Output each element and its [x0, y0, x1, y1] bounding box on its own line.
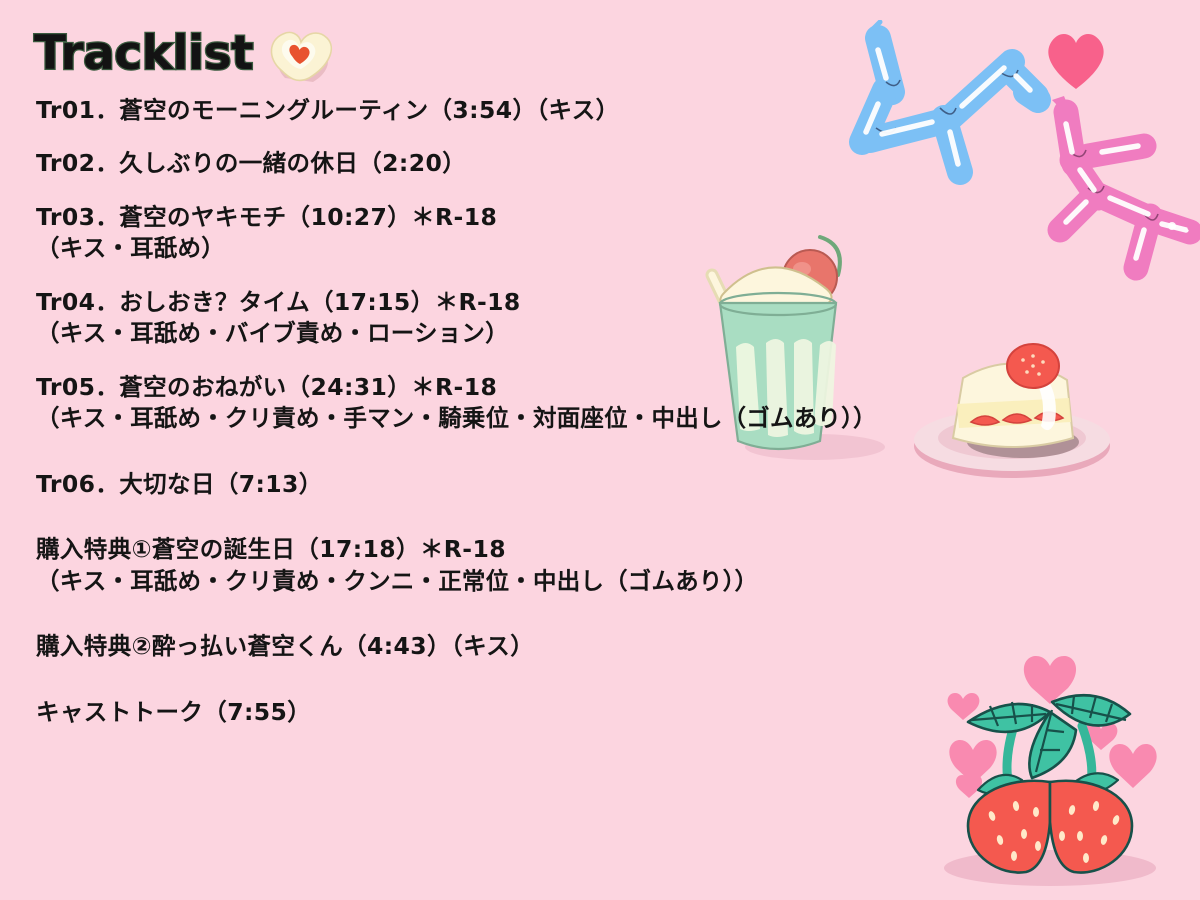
track-item: Tr06．大切な日（7:13）: [36, 469, 896, 500]
balloon-dog-pink-icon: [1040, 90, 1200, 290]
page-title: Tracklist: [34, 30, 253, 77]
strawberry-pair-icon: [920, 640, 1185, 890]
track-title: Tr03．蒼空のヤキモチ（10:27）＊R-18: [36, 202, 896, 233]
heart-icon: [1042, 28, 1110, 92]
track-tags: （キス・耳舐め・バイブ責め・ローション）: [36, 318, 896, 349]
track-tags: （キス・耳舐め・クリ責め・クンニ・正常位・中出し（ゴムあり））: [36, 566, 896, 597]
track-item: Tr05．蒼空のおねがい（24:31）＊R-18 （キス・耳舐め・クリ責め・手マ…: [36, 372, 896, 435]
track-title: Tr06．大切な日（7:13）: [36, 469, 896, 500]
track-item: Tr04．おしおき？タイム（17:15）＊R-18 （キス・耳舐め・バイブ責め・…: [36, 287, 896, 350]
track-title: Tr04．おしおき？タイム（17:15）＊R-18: [36, 287, 896, 318]
bonus-item: 購入特典①蒼空の誕生日（17:18）＊R-18 （キス・耳舐め・クリ責め・クンニ…: [36, 534, 896, 597]
page-header: Tracklist: [34, 18, 339, 88]
tracklist-page: Tracklist Tr01．蒼空のモーニングルーティン（3:54）（キス） T…: [0, 0, 1200, 900]
tracklist: Tr01．蒼空のモーニングルーティン（3:54）（キス） Tr02．久しぶりの一…: [36, 95, 896, 750]
heart-cookie-icon: [261, 24, 339, 88]
track-title: Tr02．久しぶりの一緒の休日（2:20）: [36, 148, 896, 179]
track-item: Tr03．蒼空のヤキモチ（10:27）＊R-18 （キス・耳舐め）: [36, 202, 896, 265]
track-tags: （キス・耳舐め）: [36, 233, 896, 264]
track-title: Tr01．蒼空のモーニングルーティン（3:54）（キス）: [36, 95, 896, 126]
track-tags: （キス・耳舐め・クリ責め・手マン・騎乗位・対面座位・中出し（ゴムあり））: [36, 403, 896, 434]
track-title: キャストトーク（7:55）: [36, 697, 896, 728]
track-title: Tr05．蒼空のおねがい（24:31）＊R-18: [36, 372, 896, 403]
track-item: Tr01．蒼空のモーニングルーティン（3:54）（キス）: [36, 95, 896, 126]
track-title: 購入特典②酔っ払い蒼空くん（4:43）（キス）: [36, 631, 896, 662]
track-title: 購入特典①蒼空の誕生日（17:18）＊R-18: [36, 534, 896, 565]
bonus-item: 購入特典②酔っ払い蒼空くん（4:43）（キス）: [36, 631, 896, 662]
track-item: Tr02．久しぶりの一緒の休日（2:20）: [36, 148, 896, 179]
strawberry-shortcake-icon: [905, 330, 1120, 485]
cast-talk-item: キャストトーク（7:55）: [36, 697, 896, 728]
